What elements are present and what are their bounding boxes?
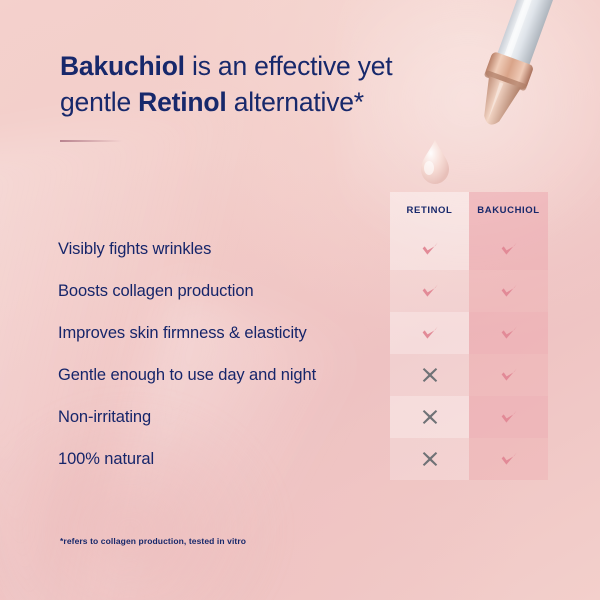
column-header-bakuchiol: BAKUCHIOL [469,192,548,228]
table-row: Improves skin firmness & elasticity [58,312,548,354]
product-infographic-card: Bakuchiol is an effective yet gentle Ret… [0,0,600,600]
cell-bakuchiol [469,438,548,480]
footnote: *refers to collagen production, tested i… [60,536,246,546]
table-row: 100% natural [58,438,548,480]
check-icon [499,449,519,469]
check-icon [420,323,440,343]
cell-bakuchiol [469,270,548,312]
table-row: Visibly fights wrinkles [58,228,548,270]
table-row: Boosts collagen production [58,270,548,312]
check-icon [499,323,519,343]
cell-retinol [390,270,469,312]
table-row: Gentle enough to use day and night [58,354,548,396]
check-icon [499,239,519,259]
cell-bakuchiol [469,396,548,438]
row-label: Boosts collagen production [58,270,390,312]
header-spacer [58,192,390,228]
headline-text-1: is an effective yet [185,51,393,81]
check-icon [420,281,440,301]
headline-text-3: alternative* [227,87,364,117]
headline-text-2: gentle [60,87,138,117]
check-icon [499,281,519,301]
serum-droplet-icon [415,138,455,186]
row-label: Improves skin firmness & elasticity [58,312,390,354]
row-label: Non-irritating [58,396,390,438]
cell-retinol [390,312,469,354]
cell-bakuchiol [469,354,548,396]
page-title: Bakuchiol is an effective yet gentle Ret… [60,48,460,120]
table-header-row: RETINOL BAKUCHIOL [58,192,548,228]
cross-icon [421,450,439,468]
comparison-table: RETINOL BAKUCHIOL Visibly fights wrinkle… [58,192,548,480]
cell-retinol [390,354,469,396]
cell-bakuchiol [469,312,548,354]
headline-retinol: Retinol [138,87,226,117]
check-icon [420,239,440,259]
cell-retinol [390,228,469,270]
title-divider [60,140,122,142]
cell-retinol [390,396,469,438]
cross-icon [421,408,439,426]
cell-retinol [390,438,469,480]
column-header-retinol: RETINOL [390,192,469,228]
row-label: Gentle enough to use day and night [58,354,390,396]
table-row: Non-irritating [58,396,548,438]
row-label: 100% natural [58,438,390,480]
check-icon [499,407,519,427]
cross-icon [421,366,439,384]
row-label: Visibly fights wrinkles [58,228,390,270]
check-icon [499,365,519,385]
headline-bakuchiol: Bakuchiol [60,51,185,81]
table-body: Visibly fights wrinklesBoosts collagen p… [58,228,548,480]
cell-bakuchiol [469,228,548,270]
